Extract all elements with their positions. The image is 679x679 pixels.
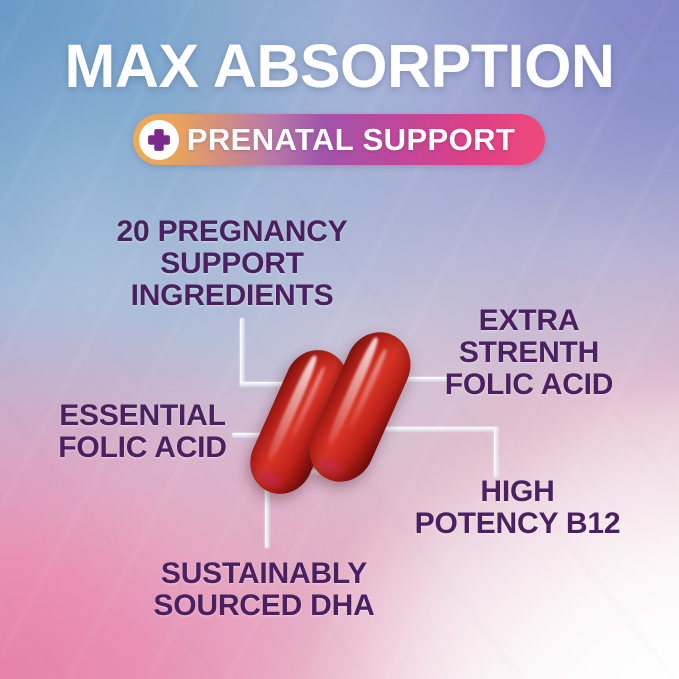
medical-cross-icon [139, 120, 179, 160]
feature-label-line: HIGH [380, 476, 655, 508]
feature-label-line: ESSENTIAL [20, 400, 265, 432]
feature-label-line: SOURCED DHA [105, 590, 423, 622]
feature-label-high-potency-b12: HIGH POTENCY B12 [380, 476, 655, 540]
feature-label-line: STRENTH [395, 337, 663, 369]
prenatal-supplement-infographic: MAX ABSORPTION PRENATAL SUPPORT [0, 0, 679, 679]
feature-label-line: SUPPORT [62, 248, 402, 280]
feature-label-line: POTENCY B12 [380, 508, 655, 540]
feature-label-line: EXTRA [395, 305, 663, 337]
badge-label: PRENATAL SUPPORT [179, 122, 545, 158]
capsule-tip-glow [310, 451, 350, 483]
feature-label-line: INGREDIENTS [62, 280, 402, 312]
capsule-highlight [324, 336, 381, 447]
prenatal-support-badge: PRENATAL SUPPORT [133, 114, 545, 165]
page-title: MAX ABSORPTION [0, 36, 679, 97]
feature-label-line: 20 PREGNANCY [62, 216, 402, 248]
feature-label-essential-folic-acid: ESSENTIAL FOLIC ACID [20, 400, 265, 464]
feature-label-line: FOLIC ACID [395, 369, 663, 401]
feature-label-line: SUSTAINABLY [105, 558, 423, 590]
leader-line-b12-vertical [494, 427, 498, 477]
feature-label-sustainably-sourced-dha: SUSTAINABLY SOURCED DHA [105, 558, 423, 622]
feature-label-ingredients: 20 PREGNANCY SUPPORT INGREDIENTS [62, 216, 402, 312]
leader-line-ingredients-vertical [240, 318, 244, 386]
feature-label-line: FOLIC ACID [20, 432, 265, 464]
feature-label-extra-folic-acid: EXTRA STRENTH FOLIC ACID [395, 305, 663, 401]
